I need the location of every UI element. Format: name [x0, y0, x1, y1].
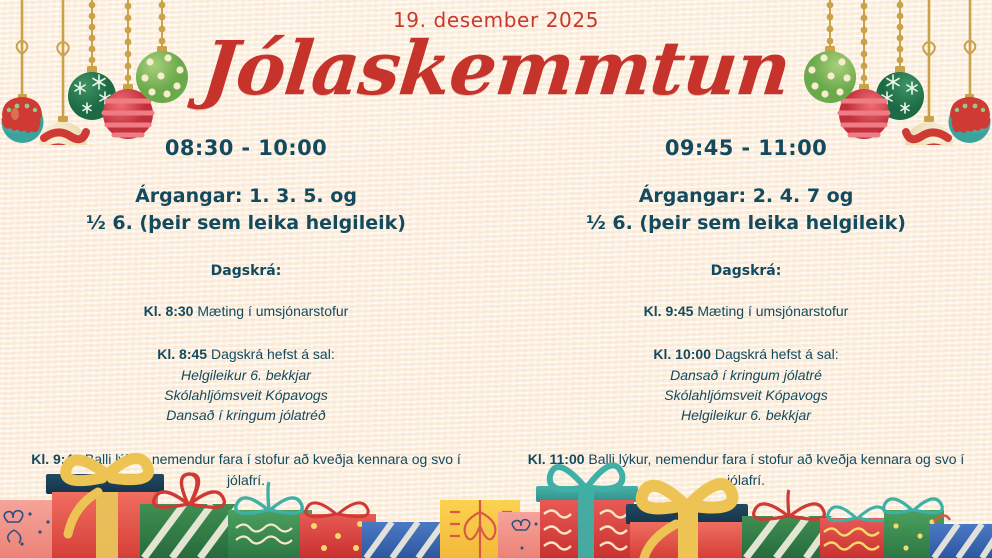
gift-box-blue-stripe-2: [930, 515, 992, 558]
start-text: Dagskrá hefst á sal:: [207, 346, 335, 362]
end-time: Kl. 9:45: [31, 451, 81, 467]
start-time: Kl. 8:45: [157, 346, 207, 362]
gift-box-green-stripe-2: [742, 490, 836, 558]
session-time-range: 08:30 - 10:00: [26, 136, 466, 160]
session-grades-line2: ½ 6. (þeir sem leika helgileik): [26, 210, 466, 237]
start-text: Dagskrá hefst á sal:: [711, 346, 839, 362]
gift-box-red-scroll: [820, 507, 894, 558]
program-item: Dansað í kringum jólatré: [526, 365, 966, 385]
end-text: Balli lýkur, nemendur fara í stofur að k…: [585, 451, 965, 488]
session-footnote: Frístund opin frá kl. 10 ath. sér skráni…: [26, 517, 466, 558]
session-grades-line1: Árgangar: 2. 4. 7 og: [526, 183, 966, 210]
agenda-end: Kl. 11:00 Balli lýkur, nemendur fara í s…: [526, 449, 966, 491]
agenda-start: Kl. 8:45 Dagskrá hefst á sal: Helgileiku…: [26, 344, 466, 425]
footnote-line1: Frístund opin frá kl. 10: [26, 517, 466, 538]
arrival-text: Mæting í umsjónarstofur: [693, 303, 848, 319]
agenda-arrival: Kl. 8:30 Mæting í umsjónarstofur: [26, 301, 466, 322]
program-item: Dansað í kringum jólatréð: [26, 405, 466, 425]
end-text: Balli lýkur, nemendur fara í stofur að k…: [81, 451, 461, 488]
session-grades-line2: ½ 6. (þeir sem leika helgileik): [526, 210, 966, 237]
event-title: Jólaskemmtun: [0, 26, 992, 112]
program-item: Skólahljómsveit Kópavogs: [26, 385, 466, 405]
arrival-text: Mæting í umsjónarstofur: [193, 303, 348, 319]
agenda-arrival: Kl. 9:45 Mæting í umsjónarstofur: [526, 301, 966, 322]
arrival-time: Kl. 9:45: [644, 303, 694, 319]
agenda-label: Dagskrá:: [526, 263, 966, 279]
christmas-event-poster: 19. desember 2025 Jólaskemmtun 08:30 - 1…: [0, 0, 992, 558]
agenda-label: Dagskrá:: [26, 263, 466, 279]
footnote-line2: ath. sér skráning í frístund fyrir þenna…: [26, 538, 466, 558]
session-column-2: 09:45 - 11:00 Árgangar: 2. 4. 7 og ½ 6. …: [526, 136, 966, 491]
session-grades: Árgangar: 1. 3. 5. og ½ 6. (þeir sem lei…: [26, 183, 466, 237]
gift-box-pink-small-2: [498, 512, 560, 558]
session-time-range: 09:45 - 11:00: [526, 136, 966, 160]
gift-box-green-teal-bow-2: [884, 499, 944, 558]
session-grades: Árgangar: 2. 4. 7 og ½ 6. (þeir sem leik…: [526, 183, 966, 237]
end-time: Kl. 11:00: [528, 451, 585, 467]
start-time: Kl. 10:00: [653, 346, 711, 362]
program-item: Helgileikur 6. bekkjar: [26, 365, 466, 385]
arrival-time: Kl. 8:30: [144, 303, 194, 319]
program-item: Helgileikur 6. bekkjar: [526, 405, 966, 425]
agenda-start: Kl. 10:00 Dagskrá hefst á sal: Dansað í …: [526, 344, 966, 425]
gift-box-red-navy-gold-bow-2: [626, 484, 748, 558]
program-item: Skólahljómsveit Kópavogs: [526, 385, 966, 405]
session-grades-line1: Árgangar: 1. 3. 5. og: [26, 183, 466, 210]
session-column-1: 08:30 - 10:00 Árgangar: 1. 3. 5. og ½ 6.…: [26, 136, 466, 558]
agenda-end: Kl. 9:45 Balli lýkur, nemendur fara í st…: [26, 449, 466, 491]
